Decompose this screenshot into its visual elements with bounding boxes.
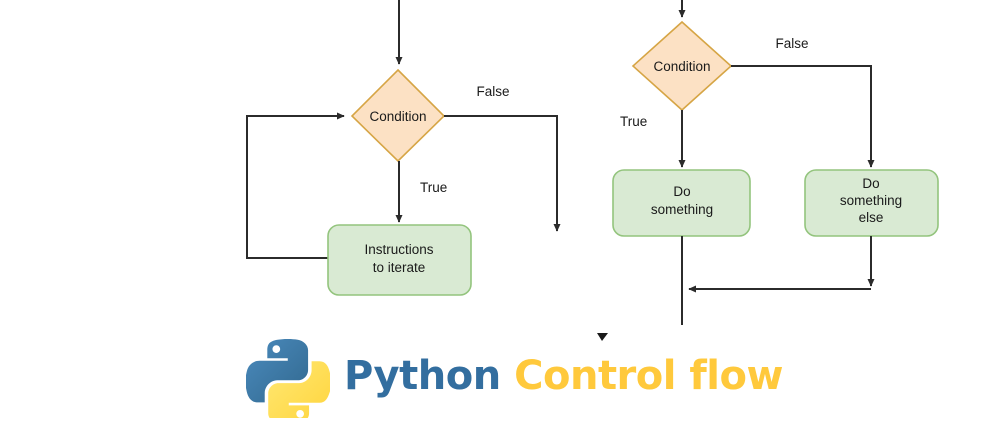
footer-title-python: Python [344, 353, 501, 399]
branch-false-label: False [775, 36, 808, 51]
loop-flowchart-group: Condition True False Instructions to ite… [247, 0, 557, 295]
footer-title: Python Control flow [344, 356, 783, 396]
branch-true-process-label-line1: Do [673, 184, 690, 199]
python-logo [246, 334, 330, 418]
loop-condition-label: Condition [369, 109, 426, 124]
loop-false-label: False [476, 84, 509, 99]
footer-title-control-flow: Control flow [514, 353, 783, 399]
branch-true-process-label-line2: something [651, 202, 713, 217]
branch-false-process-label-line3: else [859, 210, 884, 225]
loop-false-edge [444, 116, 557, 231]
flowchart-canvas: Condition True False Instructions to ite… [0, 0, 1000, 430]
branch-false-process-label-line1: Do [862, 176, 879, 191]
loop-process-label-line2: to iterate [373, 260, 426, 275]
branch-flowchart-group: Condition True False Do something Do som… [597, 0, 938, 341]
branch-false-edge [731, 66, 871, 167]
loop-true-label: True [420, 180, 447, 195]
branch-true-label: True [620, 114, 647, 129]
footer-title-row: Python Control flow [246, 334, 783, 418]
loop-process-label-line1: Instructions [364, 242, 433, 257]
branch-false-process-label-line2: something [840, 193, 902, 208]
branch-condition-label: Condition [653, 59, 710, 74]
